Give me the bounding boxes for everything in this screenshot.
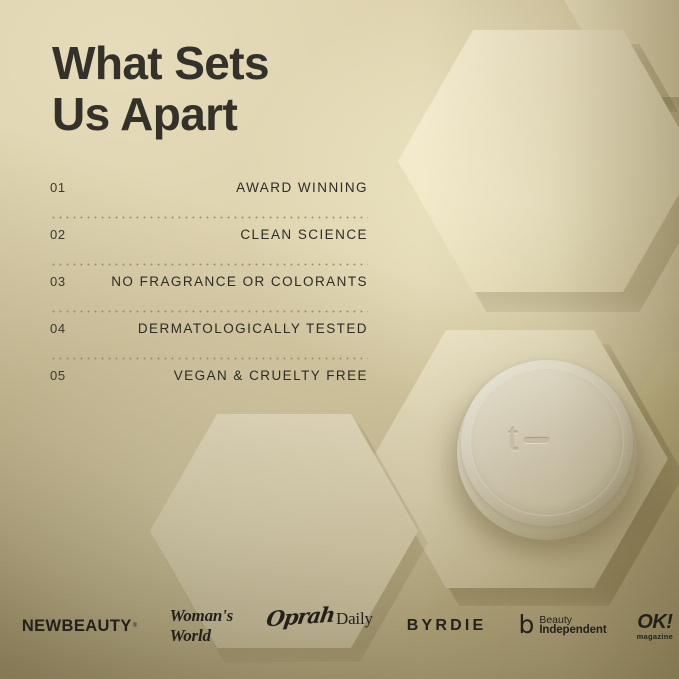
press-logo-womans-world: Woman's World: [170, 604, 233, 648]
list-item-label: AWARD WINNING: [236, 180, 368, 195]
list-item-label: CLEAN SCIENCE: [240, 227, 368, 242]
list-item-label: NO FRAGRANCE OR COLORANTS: [111, 274, 368, 289]
press-logo-byrdie: BYRDIE: [407, 604, 487, 648]
beauty-independent-b-icon: b: [518, 615, 534, 635]
list-item: 02 CLEAN SCIENCE: [50, 227, 368, 255]
feature-list: 01 AWARD WINNING 02 CLEAN SCIENCE 03 NO …: [50, 180, 368, 396]
dotted-divider: [50, 255, 368, 274]
magazine-wordmark: magazine: [637, 633, 674, 641]
press-logo-bar: NEWBEAUTY® Woman's World Oprah Daily BYR…: [0, 604, 679, 648]
beauty-independent-wordmark: Beauty Independent: [539, 615, 606, 638]
list-item-label: DERMATOLOGICALLY TESTED: [138, 321, 368, 336]
dotted-divider: [50, 208, 368, 227]
dotted-divider: [50, 349, 368, 368]
list-item: 05 VEGAN & CRUELTY FREE: [50, 368, 368, 396]
list-item-number: 04: [50, 321, 66, 336]
content-layer: What Sets Us Apart 01 AWARD WINNING 02 C…: [0, 0, 679, 679]
list-item: 03 NO FRAGRANCE OR COLORANTS: [50, 274, 368, 302]
press-logo-ok-magazine: OK! magazine: [637, 604, 674, 648]
list-item-number: 01: [50, 180, 66, 195]
daily-wordmark: Daily: [336, 609, 373, 629]
press-logo-newbeauty: NEWBEAUTY®: [22, 604, 138, 648]
list-item-number: 05: [50, 368, 66, 383]
list-item-number: 02: [50, 227, 66, 242]
press-logo-beauty-independent: b Beauty Independent: [518, 604, 606, 648]
list-item: 04 DERMATOLOGICALLY TESTED: [50, 321, 368, 349]
list-item-label: VEGAN & CRUELTY FREE: [174, 368, 368, 383]
newbeauty-wordmark: NEWBEAUTY: [22, 617, 132, 636]
oprah-script-wordmark: Oprah: [265, 602, 336, 632]
marketing-graphic: t What Sets Us Apart 01 AWARD WINNING 02…: [0, 0, 679, 679]
beauty-independent-line2: Independent: [539, 625, 606, 637]
list-item-number: 03: [50, 274, 66, 289]
list-item: 01 AWARD WINNING: [50, 180, 368, 208]
press-logo-oprah-daily: Oprah Daily: [267, 604, 373, 648]
dotted-divider: [50, 302, 368, 321]
registered-trademark-icon: ®: [133, 623, 138, 629]
page-title: What Sets Us Apart: [52, 38, 269, 139]
ok-wordmark: OK!: [637, 612, 672, 632]
